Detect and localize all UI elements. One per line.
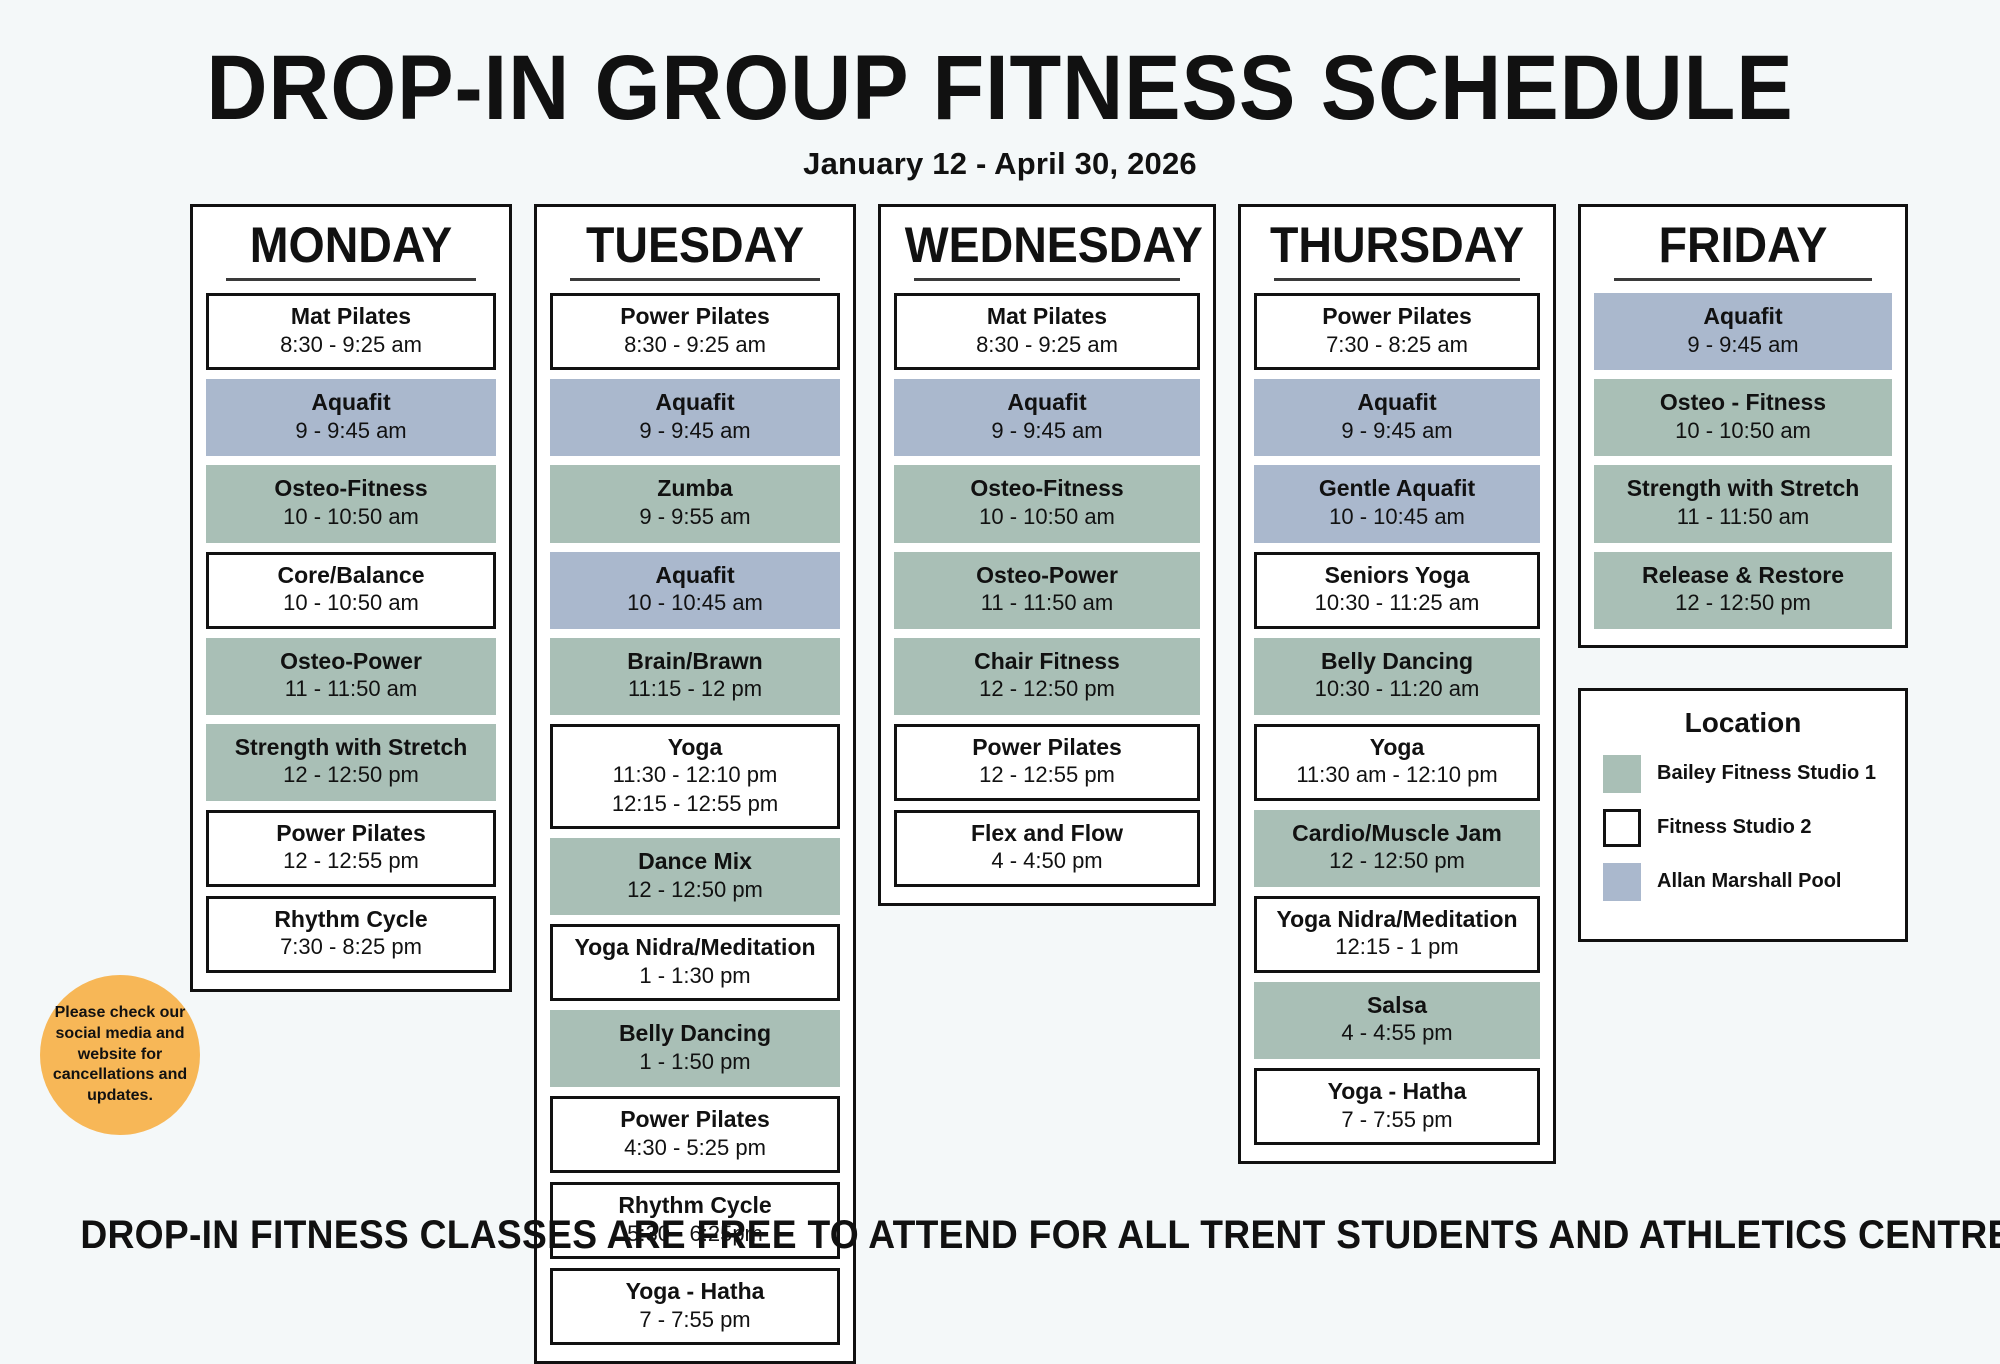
class-block[interactable]: Belly Dancing10:30 - 11:20 am — [1254, 638, 1540, 715]
class-block[interactable]: Power Pilates12 - 12:55 pm — [206, 810, 496, 887]
class-name: Yoga - Hatha — [1261, 1078, 1533, 1105]
class-time: 10 - 10:50 am — [213, 504, 489, 530]
class-block[interactable]: Power Pilates7:30 - 8:25 am — [1254, 293, 1540, 370]
day-heading: MONDAY — [216, 219, 486, 272]
notice-text: Please check our social media and websit… — [48, 1003, 192, 1107]
legend-row: Allan Marshall Pool — [1603, 863, 1883, 901]
legend-color-swatch — [1603, 863, 1641, 901]
class-time: 9 - 9:45 am — [213, 418, 489, 444]
class-block[interactable]: Strength with Stretch11 - 11:50 am — [1594, 465, 1892, 542]
legend-row: Bailey Fitness Studio 1 — [1603, 755, 1883, 793]
class-time: 11 - 11:50 am — [901, 590, 1193, 616]
class-time: 10:30 - 11:20 am — [1261, 676, 1533, 702]
class-block[interactable]: Power Pilates4:30 - 5:25 pm — [550, 1096, 840, 1173]
class-block[interactable]: Osteo-Fitness10 - 10:50 am — [894, 465, 1200, 542]
day-column-wednesday: WEDNESDAYMat Pilates8:30 - 9:25 amAquafi… — [878, 204, 1216, 905]
day-column-monday: MONDAYMat Pilates8:30 - 9:25 amAquafit9 … — [190, 204, 512, 992]
class-block[interactable]: Osteo-Fitness10 - 10:50 am — [206, 465, 496, 542]
class-name: Yoga — [1261, 734, 1533, 761]
class-block[interactable]: Chair Fitness12 - 12:50 pm — [894, 638, 1200, 715]
class-name: Strength with Stretch — [213, 734, 489, 761]
class-time: 11:30 - 12:10 pm — [557, 762, 833, 788]
class-time: 12 - 12:50 pm — [901, 676, 1193, 702]
class-time: 9 - 9:55 am — [557, 504, 833, 530]
day-heading: TUESDAY — [560, 219, 830, 272]
class-time: 11:30 am - 12:10 pm — [1261, 762, 1533, 788]
class-block[interactable]: Core/Balance10 - 10:50 am — [206, 552, 496, 629]
class-name: Belly Dancing — [557, 1020, 833, 1047]
class-name: Osteo - Fitness — [1601, 389, 1885, 416]
legend-label: Bailey Fitness Studio 1 — [1657, 762, 1876, 785]
class-name: Yoga — [557, 734, 833, 761]
class-block[interactable]: Yoga11:30 am - 12:10 pm — [1254, 724, 1540, 801]
class-time: 11 - 11:50 am — [213, 676, 489, 702]
class-name: Power Pilates — [557, 303, 833, 330]
page-header: DROP-IN GROUP FITNESS SCHEDULE January 1… — [0, 0, 2000, 182]
class-time: 7:30 - 8:25 pm — [213, 934, 489, 960]
class-time: 10 - 10:50 am — [1601, 418, 1885, 444]
class-time: 7 - 7:55 pm — [557, 1307, 833, 1333]
class-block[interactable]: Aquafit9 - 9:45 am — [206, 379, 496, 456]
class-list: Mat Pilates8:30 - 9:25 amAquafit9 - 9:45… — [894, 293, 1200, 886]
class-name: Yoga Nidra/Meditation — [557, 934, 833, 961]
class-block[interactable]: Release & Restore12 - 12:50 pm — [1594, 552, 1892, 629]
class-time: 11:15 - 12 pm — [557, 676, 833, 702]
class-time: 8:30 - 9:25 am — [901, 332, 1193, 358]
day-heading-divider — [914, 278, 1180, 281]
location-legend: LocationBailey Fitness Studio 1Fitness S… — [1578, 688, 1908, 942]
class-list: Aquafit9 - 9:45 amOsteo - Fitness10 - 10… — [1594, 293, 1892, 628]
class-block[interactable]: Aquafit9 - 9:45 am — [1254, 379, 1540, 456]
class-time: 9 - 9:45 am — [901, 418, 1193, 444]
class-time: 10 - 10:45 am — [1261, 504, 1533, 530]
class-name: Aquafit — [1601, 303, 1885, 330]
footer: DROP-IN FITNESS CLASSES ARE FREE TO ATTE… — [0, 1213, 2000, 1258]
class-name: Gentle Aquafit — [1261, 475, 1533, 502]
day-heading: FRIDAY — [1604, 219, 1881, 272]
class-time: 12:15 - 1 pm — [1261, 934, 1533, 960]
day-heading-divider — [570, 278, 820, 281]
class-time: 12 - 12:50 pm — [1261, 848, 1533, 874]
class-block[interactable]: Seniors Yoga10:30 - 11:25 am — [1254, 552, 1540, 629]
class-name: Flex and Flow — [901, 820, 1193, 847]
class-time: 12 - 12:50 pm — [213, 762, 489, 788]
class-time: 9 - 9:45 am — [1261, 418, 1533, 444]
class-time: 11 - 11:50 am — [1601, 504, 1885, 530]
class-time: 7:30 - 8:25 am — [1261, 332, 1533, 358]
class-name: Aquafit — [901, 389, 1193, 416]
class-time: 12 - 12:50 pm — [557, 877, 833, 903]
class-time: 8:30 - 9:25 am — [213, 332, 489, 358]
class-time: 10:30 - 11:25 am — [1261, 590, 1533, 616]
class-name: Power Pilates — [1261, 303, 1533, 330]
class-name: Rhythm Cycle — [213, 906, 489, 933]
class-block[interactable]: Mat Pilates8:30 - 9:25 am — [206, 293, 496, 370]
class-name: Salsa — [1261, 992, 1533, 1019]
class-name: Strength with Stretch — [1601, 475, 1885, 502]
legend-row: Fitness Studio 2 — [1603, 809, 1883, 847]
class-name: Core/Balance — [213, 562, 489, 589]
date-range-subtitle: January 12 - April 30, 2026 — [0, 146, 2000, 182]
class-block[interactable]: Yoga - Hatha7 - 7:55 pm — [550, 1268, 840, 1345]
class-time: 1 - 1:30 pm — [557, 963, 833, 989]
class-block[interactable]: Yoga Nidra/Meditation12:15 - 1 pm — [1254, 896, 1540, 973]
class-block[interactable]: Dance Mix12 - 12:50 pm — [550, 838, 840, 915]
class-time: 10 - 10:45 am — [557, 590, 833, 616]
class-block[interactable]: Flex and Flow4 - 4:50 pm — [894, 810, 1200, 887]
notice-bubble: Please check our social media and websit… — [40, 975, 200, 1135]
class-name: Release & Restore — [1601, 562, 1885, 589]
class-name: Aquafit — [557, 389, 833, 416]
class-block[interactable]: Power Pilates12 - 12:55 pm — [894, 724, 1200, 801]
friday-and-legend-stack: FRIDAYAquafit9 - 9:45 amOsteo - Fitness1… — [1578, 204, 1908, 941]
day-heading: THURSDAY — [1264, 219, 1530, 272]
class-block[interactable]: Yoga - Hatha7 - 7:55 pm — [1254, 1068, 1540, 1145]
class-time: 4 - 4:50 pm — [901, 848, 1193, 874]
class-name: Osteo-Power — [901, 562, 1193, 589]
class-name: Osteo-Fitness — [213, 475, 489, 502]
class-list: Power Pilates8:30 - 9:25 amAquafit9 - 9:… — [550, 293, 840, 1345]
class-name: Aquafit — [557, 562, 833, 589]
day-column-friday: FRIDAYAquafit9 - 9:45 amOsteo - Fitness1… — [1578, 204, 1908, 647]
class-time: 1 - 1:50 pm — [557, 1049, 833, 1075]
class-time: 4:30 - 5:25 pm — [557, 1135, 833, 1161]
legend-color-swatch — [1603, 809, 1641, 847]
class-name: Dance Mix — [557, 848, 833, 875]
footer-text: DROP-IN FITNESS CLASSES ARE FREE TO ATTE… — [80, 1213, 2000, 1258]
class-name: Cardio/Muscle Jam — [1261, 820, 1533, 847]
legend-label: Fitness Studio 2 — [1657, 816, 1811, 839]
day-heading-divider — [1274, 278, 1520, 281]
class-block[interactable]: Mat Pilates8:30 - 9:25 am — [894, 293, 1200, 370]
class-block[interactable]: Power Pilates8:30 - 9:25 am — [550, 293, 840, 370]
day-column-tuesday: TUESDAYPower Pilates8:30 - 9:25 amAquafi… — [534, 204, 856, 1364]
class-time: 7 - 7:55 pm — [1261, 1107, 1533, 1133]
class-time: 10 - 10:50 am — [213, 590, 489, 616]
class-block[interactable]: Salsa4 - 4:55 pm — [1254, 982, 1540, 1059]
class-block[interactable]: Osteo-Power11 - 11:50 am — [894, 552, 1200, 629]
class-name: Yoga - Hatha — [557, 1278, 833, 1305]
day-heading-divider — [226, 278, 476, 281]
class-name: Seniors Yoga — [1261, 562, 1533, 589]
class-block[interactable]: Aquafit9 - 9:45 am — [550, 379, 840, 456]
class-block[interactable]: Osteo - Fitness10 - 10:50 am — [1594, 379, 1892, 456]
class-name: Yoga Nidra/Meditation — [1261, 906, 1533, 933]
class-block[interactable]: Yoga Nidra/Meditation1 - 1:30 pm — [550, 924, 840, 1001]
class-time: 12 - 12:55 pm — [213, 848, 489, 874]
page-title: DROP-IN GROUP FITNESS SCHEDULE — [80, 44, 1920, 132]
class-name: Power Pilates — [557, 1106, 833, 1133]
class-name: Chair Fitness — [901, 648, 1193, 675]
legend-color-swatch — [1603, 755, 1641, 793]
class-time-secondary: 12:15 - 12:55 pm — [557, 791, 833, 817]
class-block[interactable]: Rhythm Cycle7:30 - 8:25 pm — [206, 896, 496, 973]
legend-label: Allan Marshall Pool — [1657, 870, 1841, 893]
class-name: Osteo-Power — [213, 648, 489, 675]
class-name: Aquafit — [213, 389, 489, 416]
class-name: Power Pilates — [901, 734, 1193, 761]
class-block[interactable]: Aquafit9 - 9:45 am — [894, 379, 1200, 456]
class-name: Mat Pilates — [901, 303, 1193, 330]
class-block[interactable]: Osteo-Power11 - 11:50 am — [206, 638, 496, 715]
class-time: 9 - 9:45 am — [557, 418, 833, 444]
class-block[interactable]: Gentle Aquafit10 - 10:45 am — [1254, 465, 1540, 542]
class-block[interactable]: Belly Dancing1 - 1:50 pm — [550, 1010, 840, 1087]
class-list: Mat Pilates8:30 - 9:25 amAquafit9 - 9:45… — [206, 293, 496, 973]
class-time: 12 - 12:55 pm — [901, 762, 1193, 788]
legend-title: Location — [1603, 707, 1883, 739]
class-time: 9 - 9:45 am — [1601, 332, 1885, 358]
schedule-board: MONDAYMat Pilates8:30 - 9:25 amAquafit9 … — [60, 204, 1940, 1364]
class-name: Aquafit — [1261, 389, 1533, 416]
day-heading: WEDNESDAY — [905, 219, 1190, 272]
day-heading-divider — [1614, 278, 1872, 281]
class-block[interactable]: Zumba9 - 9:55 am — [550, 465, 840, 542]
class-name: Zumba — [557, 475, 833, 502]
class-block[interactable]: Aquafit9 - 9:45 am — [1594, 293, 1892, 370]
class-name: Osteo-Fitness — [901, 475, 1193, 502]
class-list: Power Pilates7:30 - 8:25 amAquafit9 - 9:… — [1254, 293, 1540, 1145]
class-time: 4 - 4:55 pm — [1261, 1020, 1533, 1046]
class-block[interactable]: Yoga11:30 - 12:10 pm12:15 - 12:55 pm — [550, 724, 840, 829]
class-block[interactable]: Brain/Brawn11:15 - 12 pm — [550, 638, 840, 715]
class-name: Mat Pilates — [213, 303, 489, 330]
class-time: 10 - 10:50 am — [901, 504, 1193, 530]
class-name: Power Pilates — [213, 820, 489, 847]
class-block[interactable]: Aquafit10 - 10:45 am — [550, 552, 840, 629]
class-name: Belly Dancing — [1261, 648, 1533, 675]
day-column-thursday: THURSDAYPower Pilates7:30 - 8:25 amAquaf… — [1238, 204, 1556, 1164]
class-time: 12 - 12:50 pm — [1601, 590, 1885, 616]
class-time: 8:30 - 9:25 am — [557, 332, 833, 358]
class-name: Brain/Brawn — [557, 648, 833, 675]
class-block[interactable]: Cardio/Muscle Jam12 - 12:50 pm — [1254, 810, 1540, 887]
class-block[interactable]: Strength with Stretch12 - 12:50 pm — [206, 724, 496, 801]
